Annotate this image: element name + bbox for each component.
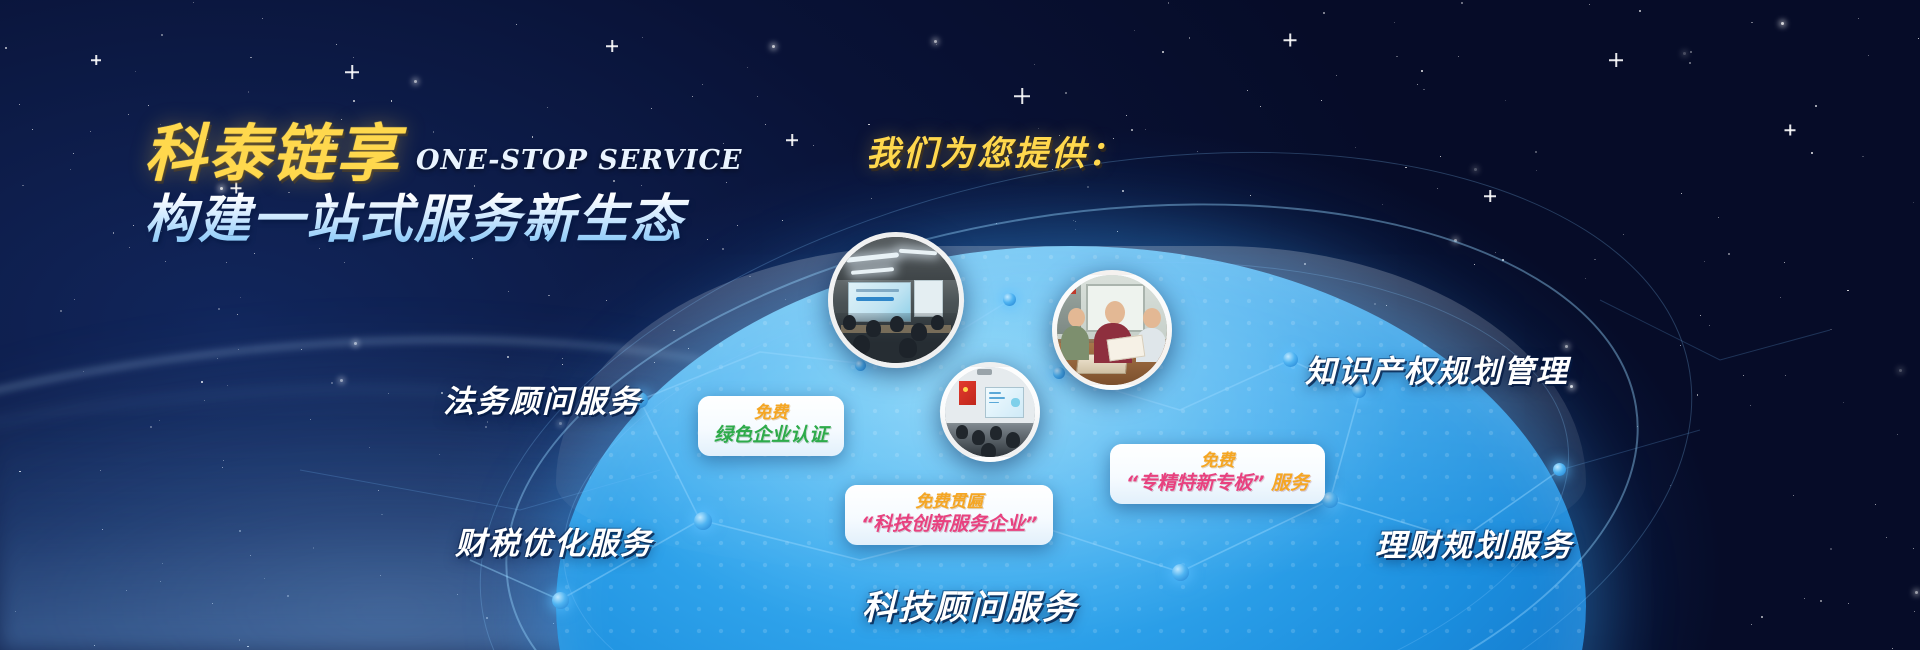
brand-title: 科泰链享: [144, 122, 400, 186]
badge-line2-suffix: 服务: [1264, 472, 1309, 494]
service-label-ip[interactable]: 知识产权规划管理: [1305, 346, 1569, 391]
badge-sme-board-service[interactable]: 免费 “专精特新专板” 服务: [1110, 444, 1325, 504]
service-label-legal[interactable]: 法务顾问服务: [443, 376, 641, 421]
brand-title-english: ONE-STOP SERVICE: [416, 145, 743, 176]
badge-line1: 免费贯匾: [861, 492, 1037, 513]
headline-subtitle: 构建一站式服务新生态: [144, 192, 764, 249]
photo-office-meeting: [1052, 270, 1172, 390]
badge-green-cert[interactable]: 免费 绿色企业认证: [698, 396, 844, 456]
badge-innovation-enterprise[interactable]: 免费贯匾 “科技创新服务企业”: [845, 485, 1053, 545]
photo-conference-room: [940, 362, 1040, 462]
service-label-tech[interactable]: 科技顾问服务: [862, 580, 1078, 629]
badge-line1: 免费: [714, 403, 828, 424]
badge-line2: “科技创新服务企业”: [861, 513, 1037, 536]
network-node: [694, 512, 712, 530]
service-label-wealth[interactable]: 理财规划服务: [1375, 520, 1573, 565]
badge-line2: “专精特新专板” 服务: [1126, 472, 1309, 495]
lead-heading: 我们为您提供：: [866, 126, 1125, 175]
badge-line2-main: “专精特新专板”: [1126, 472, 1264, 494]
promo-banner: 科泰链享ONE-STOP SERVICE 构建一站式服务新生态 我们为您提供：: [0, 0, 1920, 650]
network-node: [552, 592, 569, 609]
badge-line2: 绿色企业认证: [714, 424, 828, 447]
network-node: [1172, 564, 1189, 581]
service-label-tax[interactable]: 财税优化服务: [455, 518, 653, 563]
network-node: [1553, 463, 1566, 476]
photo-seminar-hall: [828, 232, 964, 368]
badge-line1: 免费: [1126, 451, 1309, 472]
network-node: [1283, 352, 1298, 367]
network-node: [1003, 293, 1016, 306]
headline-block: 科泰链享ONE-STOP SERVICE 构建一站式服务新生态: [144, 122, 764, 250]
